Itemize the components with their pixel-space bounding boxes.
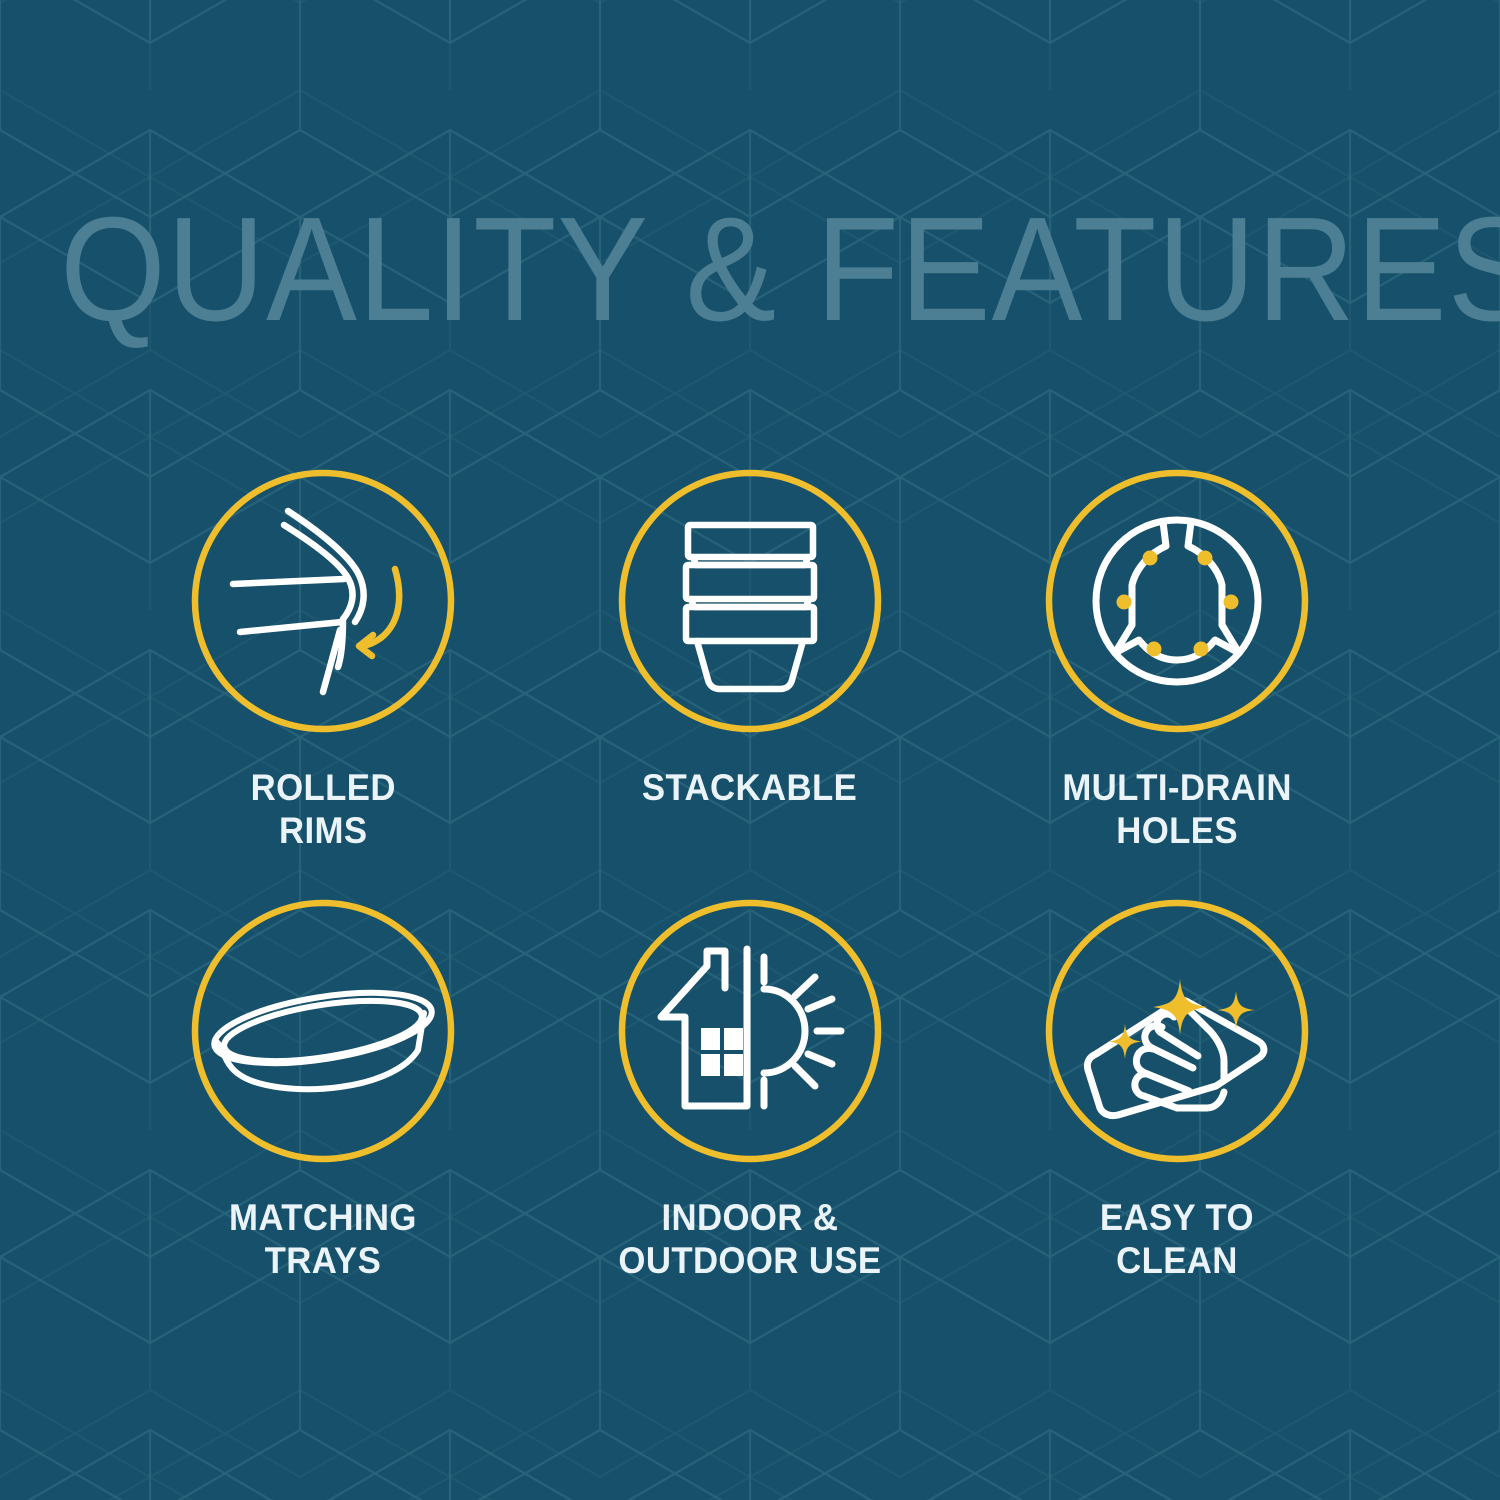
rolled-rim-icon xyxy=(233,511,364,692)
badge-stackable xyxy=(619,470,881,732)
feature-label: MULTI-DRAIN HOLES xyxy=(1062,766,1292,852)
feature-rolled-rims[interactable]: ROLLED RIMS xyxy=(110,470,537,900)
badge-multi-drain-holes xyxy=(1046,470,1308,732)
badge-indoor-outdoor-use xyxy=(619,900,881,1162)
feature-stackable[interactable]: STACKABLE xyxy=(537,470,964,900)
infographic-canvas: QUALITY & FEATURES xyxy=(0,0,1500,1500)
feature-label: STACKABLE xyxy=(642,766,857,809)
feature-label: MATCHING TRAYS xyxy=(229,1196,417,1282)
feature-multi-drain-holes[interactable]: MULTI-DRAIN HOLES xyxy=(963,470,1390,900)
badge-ring xyxy=(1049,903,1305,1159)
feature-easy-to-clean[interactable]: EASY TO CLEAN xyxy=(963,900,1390,1330)
page-title: QUALITY & FEATURES xyxy=(60,196,1440,344)
half-sun-icon xyxy=(764,957,841,1106)
badge-rolled-rims xyxy=(192,470,454,732)
badge-easy-to-clean xyxy=(1046,900,1308,1162)
stacked-pots-icon xyxy=(686,525,814,689)
feature-label: ROLLED RIMS xyxy=(251,766,396,852)
house-window-icon xyxy=(701,1028,743,1076)
badge-matching-trays xyxy=(192,900,454,1162)
house-icon xyxy=(661,949,747,1106)
badge-ring xyxy=(1049,473,1305,729)
feature-label: EASY TO CLEAN xyxy=(1100,1196,1254,1282)
tray-saucer-icon xyxy=(210,980,437,1089)
feature-indoor-outdoor-use[interactable]: INDOOR & OUTDOOR USE xyxy=(537,900,964,1330)
feature-label: INDOOR & OUTDOOR USE xyxy=(618,1196,881,1282)
feature-matching-trays[interactable]: MATCHING TRAYS xyxy=(110,900,537,1330)
features-grid: ROLLED RIMS STACKABLE xyxy=(110,470,1390,1330)
